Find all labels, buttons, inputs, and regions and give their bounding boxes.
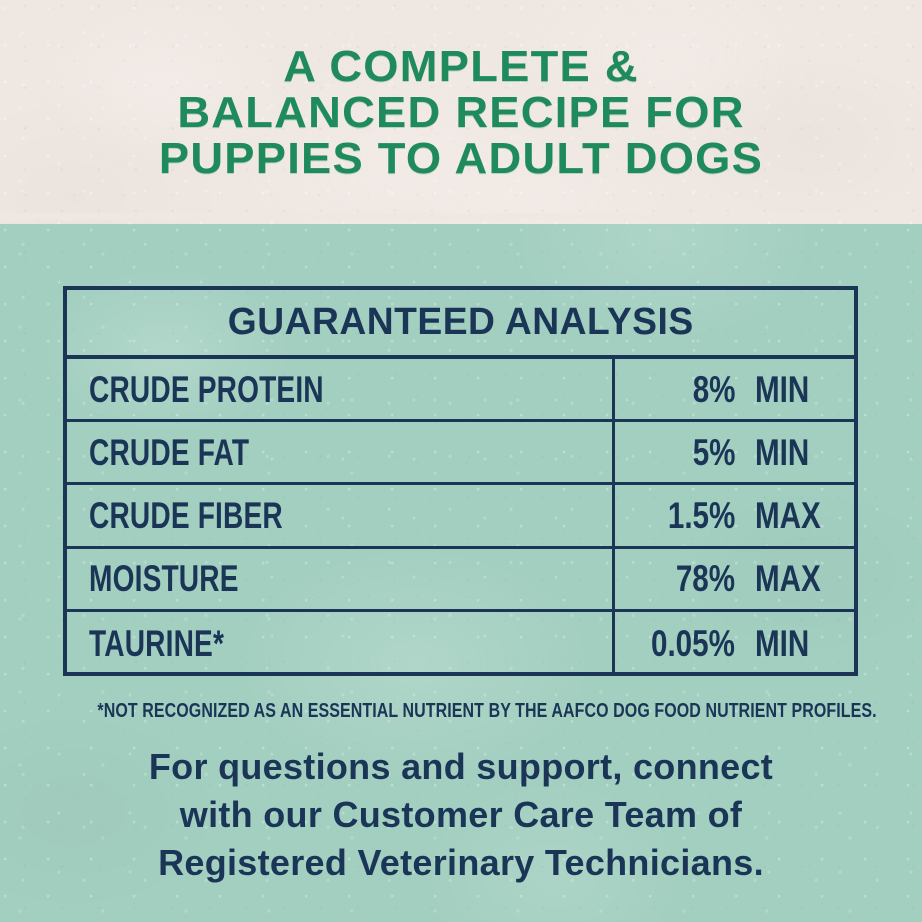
customer-care-line-1: For questions and support, connect bbox=[0, 743, 922, 791]
headline-line-2: BALANCED RECIPE FOR bbox=[0, 90, 922, 136]
customer-care-line-2: with our Customer Care Team of bbox=[0, 791, 922, 839]
nutrient-amount: 1.5% bbox=[615, 497, 737, 534]
product-label-panel: A COMPLETE & BALANCED RECIPE FOR PUPPIES… bbox=[0, 0, 922, 922]
nutrient-name-cell: CRUDE FIBER bbox=[67, 485, 615, 545]
nutrient-name-text: CRUDE FAT bbox=[89, 434, 249, 471]
aafco-footnote-text: *NOT RECOGNIZED AS AN ESSENTIAL NUTRIENT… bbox=[97, 700, 876, 723]
nutrient-value-cell: 5% MIN bbox=[615, 422, 854, 482]
nutrient-name-cell: MOISTURE bbox=[67, 549, 615, 609]
nutrient-name-text: TAURINE* bbox=[89, 625, 224, 662]
nutrient-amount: 0.05% bbox=[615, 625, 737, 662]
customer-care-line-3: Registered Veterinary Technicians. bbox=[0, 839, 922, 887]
table-row: CRUDE FIBER 1.5% MAX bbox=[67, 485, 854, 548]
table-row: MOISTURE 78% MAX bbox=[67, 549, 854, 612]
nutrient-qualifier: MIN bbox=[737, 371, 823, 408]
headline-line-1: A COMPLETE & bbox=[0, 44, 922, 90]
headline-panel: A COMPLETE & BALANCED RECIPE FOR PUPPIES… bbox=[0, 0, 922, 224]
nutrient-amount: 8% bbox=[615, 371, 737, 408]
nutrient-name-cell: CRUDE PROTEIN bbox=[67, 359, 615, 419]
customer-care-message: For questions and support, connect with … bbox=[0, 743, 922, 887]
nutrient-value-cell: 78% MAX bbox=[615, 549, 854, 609]
nutrient-value-cell: 0.05% MIN bbox=[615, 612, 854, 675]
nutrient-name-cell: TAURINE* bbox=[67, 612, 615, 675]
torn-paper-edge-divider bbox=[0, 213, 922, 225]
aafco-footnote: *NOT RECOGNIZED AS AN ESSENTIAL NUTRIENT… bbox=[0, 700, 922, 723]
nutrient-name-text: MOISTURE bbox=[89, 560, 239, 597]
table-row: TAURINE* 0.05% MIN bbox=[67, 612, 854, 675]
nutrient-amount: 5% bbox=[615, 434, 737, 471]
nutrient-value-cell: 1.5% MAX bbox=[615, 485, 854, 545]
table-row: CRUDE PROTEIN 8% MIN bbox=[67, 359, 854, 422]
nutrient-qualifier: MIN bbox=[737, 625, 823, 662]
nutrient-amount: 78% bbox=[615, 560, 737, 597]
nutrient-value-cell: 8% MIN bbox=[615, 359, 854, 419]
guaranteed-analysis-table: GUARANTEED ANALYSIS CRUDE PROTEIN 8% MIN… bbox=[63, 286, 858, 676]
nutrient-name-cell: CRUDE FAT bbox=[67, 422, 615, 482]
nutrient-qualifier: MAX bbox=[737, 560, 837, 597]
headline-line-3: PUPPIES TO ADULT DOGS bbox=[0, 136, 922, 182]
guaranteed-analysis-title-text: GUARANTEED ANALYSIS bbox=[228, 301, 694, 344]
nutrient-qualifier: MAX bbox=[737, 497, 837, 534]
nutrient-name-text: CRUDE FIBER bbox=[89, 497, 283, 534]
page-title: A COMPLETE & BALANCED RECIPE FOR PUPPIES… bbox=[0, 44, 922, 182]
guaranteed-analysis-title: GUARANTEED ANALYSIS bbox=[67, 290, 854, 359]
nutrient-name-text: CRUDE PROTEIN bbox=[89, 371, 324, 408]
table-row: CRUDE FAT 5% MIN bbox=[67, 422, 854, 485]
nutrient-qualifier: MIN bbox=[737, 434, 823, 471]
